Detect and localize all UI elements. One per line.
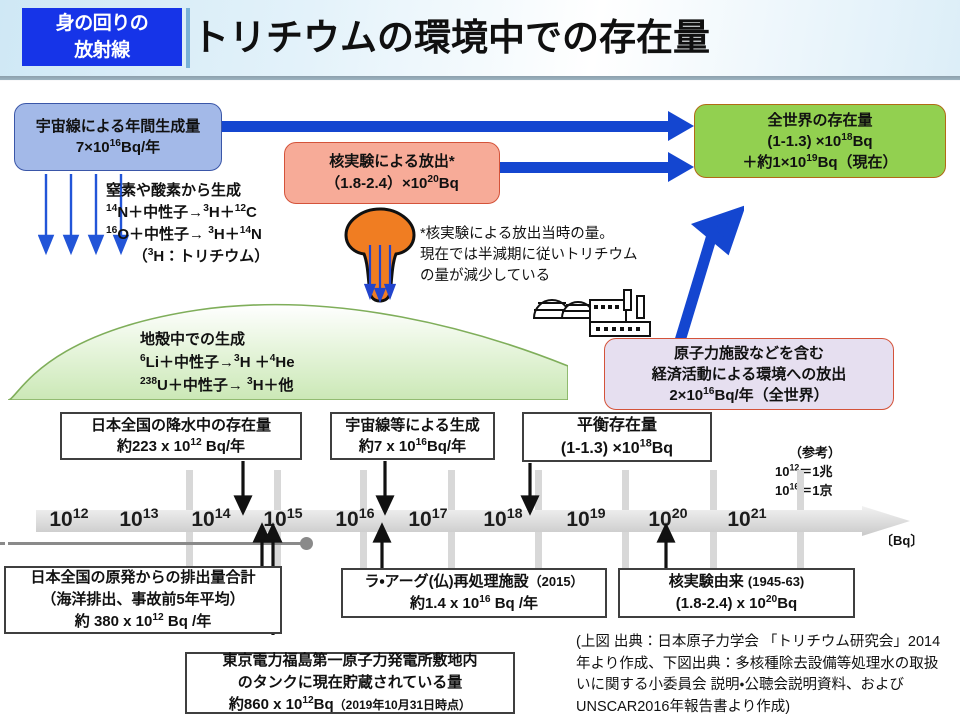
box-cosmic-ray-production: 宇宙線による年間生成量 7×1016Bq/年 [14, 103, 222, 171]
callout-npp-line3: 約 380 x 1012 Bq /年 [75, 611, 211, 633]
box-world-exp: 18 [841, 132, 852, 143]
box-world-line1: 全世界の存在量 [767, 110, 872, 131]
box-world-line3: ＋約1×1019Bq（現在） [742, 152, 897, 173]
box-nuke-unit: Bq [439, 175, 459, 192]
box-cosmic-line1: 宇宙線による年間生成量 [36, 116, 201, 137]
callout-lahague-line2: 約1.4 x 1016 Bq /年 [410, 593, 538, 615]
box-world-unit2: Bq（現在） [818, 154, 898, 171]
callout-npp-line2: （海洋排出、事故前5年平均） [41, 589, 244, 611]
box-cosmic-unit: Bq/年 [121, 139, 160, 156]
callout-npp-line1: 日本全国の原発からの排出量合計 [30, 567, 255, 589]
box-world-exp2: 19 [806, 153, 817, 164]
box-nuke-value: （1.8-2.4）×10 [325, 175, 427, 192]
header-shadow [0, 76, 960, 81]
crust-reaction-text: 地殻中での生成 6Li＋中性子→3H ＋4He 238U＋中性子→ 3H＋他 [140, 328, 410, 397]
box-nuke-line2: （1.8-2.4）×1020Bq [325, 173, 459, 195]
box-facility-exp: 16 [703, 386, 714, 397]
box-nuke-line1: 核実験による放出* [329, 151, 454, 173]
box-world-total-inventory: 全世界の存在量 (1-1.3) ×1018Bq ＋約1×1019Bq（現在） [694, 104, 946, 178]
footnote-line3: の量が減少している [420, 266, 670, 287]
box-cosmic-exp: 16 [110, 138, 121, 149]
crust-line1: 地殻中での生成 [140, 328, 410, 351]
box-world-value: (1-1.3) ×10 [767, 133, 841, 150]
arrow-cosmic-to-world-head [668, 111, 694, 141]
arrow-cosmic-to-world [222, 121, 674, 132]
callout-equilibrium: 平衡存在量 (1-1.3) ×1018Bq [522, 412, 712, 462]
box-facility-unit: Bq/年（全世界） [714, 387, 828, 404]
box-cosmic-value: 7×10 [76, 139, 110, 156]
callout-nuclear-test-origin: 核実験由来 (1945-63) (1.8-2.4) x 1020Bq [618, 568, 855, 618]
callout-rain-line2: 約223 x 1012 Bq/年 [117, 436, 245, 457]
callout-cosmic-line2: 約7 x 1016Bq/年 [359, 436, 466, 457]
nuclear-test-footnote: *核実験による放出当時の量。 現在では半減期に従いトリチウム の量が減少している [420, 224, 670, 287]
box-nuke-exp: 20 [427, 174, 438, 185]
source-citation: (上図 出典：日本原子力学会 「トリチウム研究会」2014年より作成、下図出典：… [576, 632, 952, 718]
callout-la-hague: ラ・アーグ(仏)再処理施設（2015） 約1.4 x 1016 Bq /年 [341, 568, 607, 618]
box-facility-line3: 2×1016Bq/年（全世界） [669, 385, 828, 406]
callout-fukushima-line3: 約860 x 1012Bq（2019年10月31日時点） [229, 694, 471, 716]
category-badge-line1: 身の回りの [22, 10, 182, 37]
arrow-test-to-world-head [668, 152, 694, 182]
callout-fukushima-line2: のタンクに現在貯蔵されている量 [238, 672, 463, 694]
box-world-line2: (1-1.3) ×1018Bq [767, 131, 872, 152]
nitrogen-reaction-text: 窒素や酸素から生成 14N＋中性子→3H＋12C 16O＋中性子→ 3H＋14N… [106, 180, 336, 268]
callout-fukushima-tank: 東京電力福島第一原子力発電所敷地内 のタンクに現在貯蔵されている量 約860 x… [185, 652, 515, 714]
callout-fukushima-line1: 東京電力福島第一原子力発電所敷地内 [222, 650, 477, 672]
callout-test-line2: (1.8-2.4) x 1020Bq [676, 593, 797, 615]
callout-equil-line1: 平衡存在量 [577, 414, 657, 437]
factory-icon [528, 284, 658, 344]
crust-line3: 238U＋中性子→ 3H＋他 [140, 374, 410, 397]
nitrogen-line2: 14N＋中性子→3H＋12C [106, 202, 336, 224]
mushroom-cloud-icon [330, 205, 430, 305]
page-title: トリチウムの環境中での存在量 [192, 8, 932, 68]
callout-rain: 日本全国の降水中の存在量 約223 x 1012 Bq/年 [60, 412, 302, 460]
callout-equil-line2: (1-1.3) ×1018Bq [561, 437, 673, 460]
box-facility-value: 2×10 [669, 387, 703, 404]
nitrogen-line3: 16O＋中性子→ 3H＋14N [106, 224, 336, 246]
callout-cosmic-line1: 宇宙線等による生成 [345, 415, 480, 436]
category-badge: 身の回りの 放射線 [22, 8, 182, 66]
box-facility-release: 原子力施設などを含む 経済活動による環境への放出 2×1016Bq/年（全世界） [604, 338, 894, 410]
callout-rain-line1: 日本全国の降水中の存在量 [91, 415, 271, 436]
callout-cosmic-generation: 宇宙線等による生成 約7 x 1016Bq/年 [330, 412, 495, 460]
nitrogen-line4: （3H：トリチウム） [106, 246, 296, 268]
title-divider [186, 8, 190, 68]
arrow-test-to-world [500, 162, 676, 173]
box-world-unit: Bq [853, 133, 873, 150]
category-badge-line2: 放射線 [22, 37, 182, 64]
callout-japan-npp: 日本全国の原発からの排出量合計 （海洋排出、事故前5年平均） 約 380 x 1… [4, 566, 282, 634]
footnote-line2: 現在では半減期に従いトリチウム [420, 245, 670, 266]
box-world-value2: ＋約1×10 [742, 154, 806, 171]
callout-lahague-line1: ラ・アーグ(仏)再処理施設（2015） [364, 571, 583, 593]
crust-line2: 6Li＋中性子→3H ＋4He [140, 351, 410, 374]
nitrogen-line1: 窒素や酸素から生成 [106, 180, 336, 202]
callout-test-line1: 核実験由来 (1945-63) [669, 571, 805, 593]
box-cosmic-line2: 7×1016Bq/年 [76, 137, 160, 158]
box-facility-line1: 原子力施設などを含む [674, 343, 824, 364]
box-facility-line2: 経済活動による環境への放出 [652, 364, 847, 385]
footnote-line1: *核実験による放出当時の量。 [420, 224, 670, 245]
